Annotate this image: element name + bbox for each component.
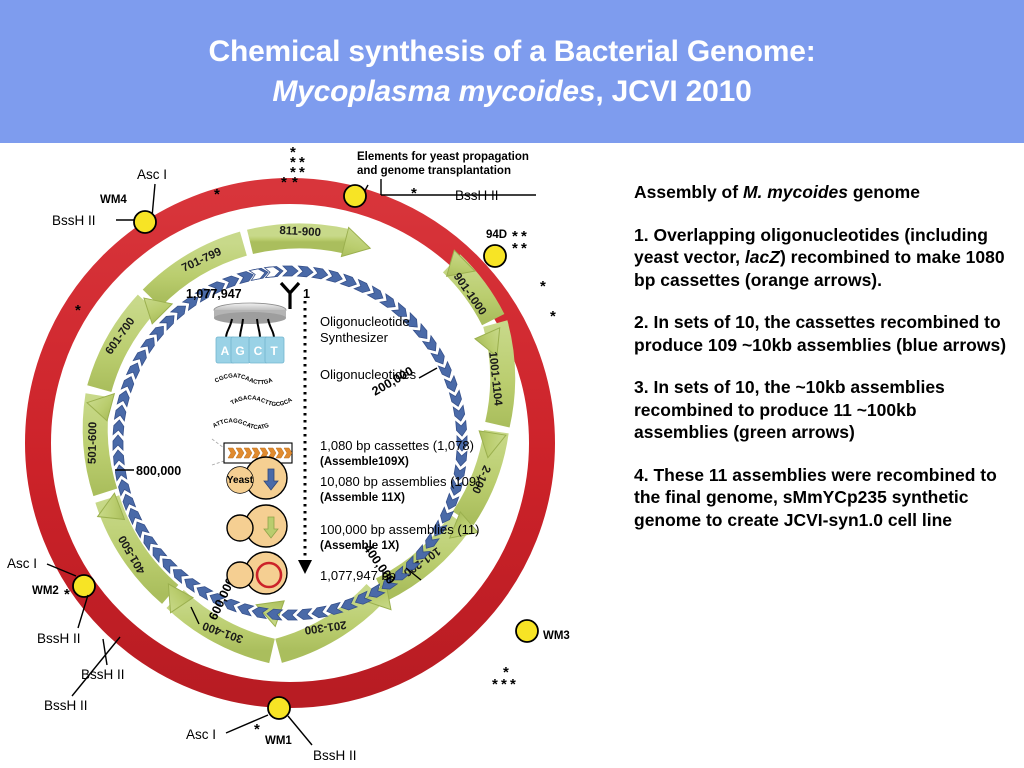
star-marker-94d-d: *	[521, 240, 527, 257]
origin-label-end: 1,077,947	[186, 287, 242, 301]
title-species: Mycoplasma mycoides	[272, 75, 595, 108]
callout-line-2: and genome transplantation	[357, 165, 511, 177]
final-genome-label: 1,077,947 bp	[320, 568, 396, 583]
slide: Chemical synthesis of a Bacterial Genome…	[0, 0, 1024, 768]
cassette-icon	[212, 439, 292, 465]
reagent-bottles: A G C T	[216, 337, 284, 363]
enzyme-label-bssh2-wm2-c: BssH II	[44, 698, 88, 713]
notes-heading: Assembly of M. mycoides genome	[634, 181, 1014, 204]
title-suffix: , JCVI 2010	[595, 75, 751, 108]
marker-site-wm2[interactable]	[73, 575, 95, 597]
star-left-1: *	[75, 302, 81, 319]
star-marker-wm3-c: *	[501, 676, 507, 693]
marker-wm4-group: Asc I WM4 BssH II	[52, 167, 167, 233]
oligo-sequence-1: CGCGATCAACTTGA	[214, 373, 274, 386]
enzyme-label-bssh2-wm1: BssH II	[313, 748, 357, 763]
notes-step-1-gene: lacZ	[745, 247, 780, 267]
notes-step-1: 1. Overlapping oligonucleotides (includi…	[634, 224, 1014, 292]
bottle-label-a: A	[221, 344, 230, 358]
asm-10kb-label: 10,080 bp assemblies (109)	[320, 474, 480, 489]
origin-label-start: 1	[303, 287, 310, 301]
notes-heading-species: M. mycoides	[743, 182, 848, 202]
yeast-cell-100kb	[227, 505, 287, 547]
marker-label-wm2: WM2	[32, 585, 59, 597]
asm-100kb-sublabel: (Assemble 1X)	[320, 540, 399, 552]
bottle-label-c: C	[254, 344, 263, 358]
star-upper-right: *	[411, 185, 417, 202]
yeast-label: Yeast	[227, 475, 254, 486]
star-top-7: *	[292, 174, 298, 191]
cassette-sublabel: (Assemble109X)	[320, 456, 409, 468]
title-line-2: Mycoplasma mycoides, JCVI 2010	[272, 72, 751, 112]
marker-site-top[interactable]	[344, 185, 366, 207]
enzyme-label-bssh2-top: BssH II	[455, 188, 499, 203]
marker-site-94d[interactable]	[484, 245, 506, 267]
oligo-sequence-3: ATTCAGGCATCATG	[212, 418, 270, 431]
star-top-6: *	[281, 174, 287, 191]
marker-site-wm4[interactable]	[134, 211, 156, 233]
star-marker-94d-c: *	[512, 240, 518, 257]
workflow-axis-arrowhead	[298, 560, 312, 574]
enzyme-label-asc1-wm2: Asc I	[7, 556, 37, 571]
marker-label-wm1: WM1	[265, 735, 292, 747]
notes-heading-pre: Assembly of	[634, 182, 743, 202]
star-marker-wm3-d: *	[510, 676, 516, 693]
enzyme-label-asc1-wm1: Asc I	[186, 727, 216, 742]
enzyme-label-asc1-wm4: Asc I	[137, 167, 167, 182]
bottle-label-g: G	[235, 344, 244, 358]
asm-10kb-sublabel: (Assemble 11X)	[320, 492, 405, 504]
oligonucleotides-label: Oligonucleotides	[320, 367, 417, 382]
yeast-cell-complete-genome	[227, 552, 287, 594]
callout-line-1: Elements for yeast propagation	[357, 151, 529, 163]
asm-100kb-label: 100,000 bp assemblies (11)	[320, 522, 479, 537]
oligonucleotide-synthesizer-icon: A G C T	[214, 303, 286, 363]
coord-tick-800000: 800,000	[136, 464, 181, 478]
star-marker-wm3-b: *	[492, 676, 498, 693]
notes-step-2: 2. In sets of 10, the cassettes recombin…	[634, 311, 1014, 356]
oligonucleotide-strands: CGCGATCAACTTGA TAGACAACTTGCGCA ATTCAGGCA…	[212, 373, 296, 431]
assembly-notes: Assembly of M. mycoides genome 1. Overla…	[634, 181, 1014, 531]
marker-label-wm3: WM3	[543, 630, 570, 642]
marker-label-wm4: WM4	[100, 194, 127, 206]
cassette-label: 1,080 bp cassettes (1,078)	[320, 438, 474, 453]
marker-wm3-group: WM3 * * * *	[492, 620, 570, 693]
marker-site-wm3[interactable]	[516, 620, 538, 642]
genome-assembly-figure: 811-900 901-1000 1001-1104 2-100 101-200…	[0, 143, 630, 768]
star-upper-left: *	[214, 186, 220, 203]
title-line-1: Chemical synthesis of a Bacterial Genome…	[208, 32, 815, 72]
segment-label-811-900: 811-900	[279, 225, 321, 239]
star-right-1: *	[540, 278, 546, 295]
star-top-5: *	[299, 164, 305, 181]
oligo-sequence-2: TAGACAACTTGCGCA	[230, 395, 294, 408]
notes-step-3: 3. In sets of 10, the ~10kb assemblies r…	[634, 376, 1014, 444]
enzyme-label-bssh2-wm2-a: BssH II	[37, 631, 81, 646]
segment-label-501-600: 501-600	[87, 422, 100, 464]
marker-site-wm1[interactable]	[268, 697, 290, 719]
marker-wm1-group: Asc I * WM1 BssH II	[186, 697, 357, 763]
enzyme-label-bssh2-wm4: BssH II	[52, 213, 96, 228]
star-marker-wm1: *	[254, 721, 260, 738]
star-marker-wm2: *	[64, 586, 70, 603]
notes-heading-post: genome	[848, 182, 920, 202]
marker-label-94d: 94D	[486, 229, 507, 241]
bottle-label-t: T	[270, 344, 278, 358]
synthesizer-label-line2: Synthesizer	[320, 330, 389, 345]
enzyme-label-bssh2-wm2-b: BssH II	[81, 667, 125, 682]
star-right-2: *	[550, 308, 556, 325]
notes-step-4: 4. These 11 assemblies were recombined t…	[634, 464, 1014, 532]
marker-94d-group: 94D * * * *	[484, 228, 527, 267]
synthesizer-label-line1: Oligonucleotide	[320, 314, 410, 329]
title-banner: Chemical synthesis of a Bacterial Genome…	[0, 0, 1024, 143]
